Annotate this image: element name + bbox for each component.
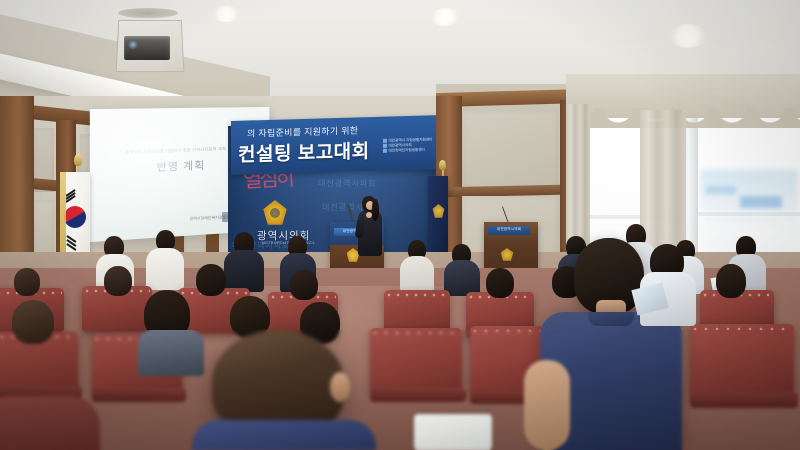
chair-armrest <box>690 392 798 408</box>
held-document <box>414 414 492 450</box>
audience-body <box>444 260 480 296</box>
foreground-right-arm <box>524 360 570 450</box>
audience-head <box>486 268 514 298</box>
conference-room-photo: 장애인의 자립준비를 지원하기 위한 지역사회참여 계획 반영 계획 광역시장애… <box>0 0 800 450</box>
foreground-left-person <box>0 396 100 450</box>
chair[interactable] <box>690 324 794 398</box>
foreground-center-head <box>212 330 344 434</box>
chair-stud-trim <box>372 330 460 338</box>
chair-stud-trim <box>692 326 792 334</box>
council-emblem-inner-icon <box>270 208 280 218</box>
audience-head <box>104 266 132 296</box>
downlight-icon <box>212 6 240 22</box>
audience-body <box>146 248 184 290</box>
window-sky-view <box>740 196 782 208</box>
audience-head <box>14 268 40 296</box>
chair-armrest <box>370 388 466 402</box>
chair-armrest <box>92 388 186 402</box>
downlight-icon <box>669 24 707 48</box>
audience-body <box>400 256 434 292</box>
window-mullion <box>698 212 800 216</box>
audience-body <box>224 250 264 292</box>
audience-head <box>290 270 318 300</box>
audience-body <box>138 330 204 376</box>
flag-finial-icon <box>439 160 446 170</box>
ceiling-vent <box>118 8 178 18</box>
audience-head <box>196 264 226 296</box>
speaker-hand <box>366 212 372 218</box>
flag-finial-icon <box>74 154 82 166</box>
window-sky-view <box>706 186 736 194</box>
foreground-right-collar <box>588 312 634 326</box>
audience-head <box>12 300 54 344</box>
audience-head <box>716 264 746 298</box>
organizer-label: 대전장애인자립생활센터 <box>389 148 425 153</box>
wall-panel <box>462 110 558 188</box>
projector-lens-icon <box>128 40 138 49</box>
organizer-label: 대전광역시의회 <box>389 143 412 148</box>
bullet-square-icon <box>383 144 387 148</box>
foreground-center-ear <box>330 372 350 402</box>
bullet-square-icon <box>383 149 387 153</box>
chair-stud-trim <box>386 292 448 298</box>
banner-title: 컨설팅 보고대회 <box>238 136 388 167</box>
taegeuk-icon <box>64 206 86 228</box>
bullet-square-icon <box>383 139 387 143</box>
organizer-label: 대전광역시 자립생활지원센터 <box>389 137 433 142</box>
podium-nameplate-text: 대전광역시의회 <box>489 227 529 232</box>
foreground-center-torso <box>192 420 376 450</box>
downlight-icon <box>430 8 460 26</box>
